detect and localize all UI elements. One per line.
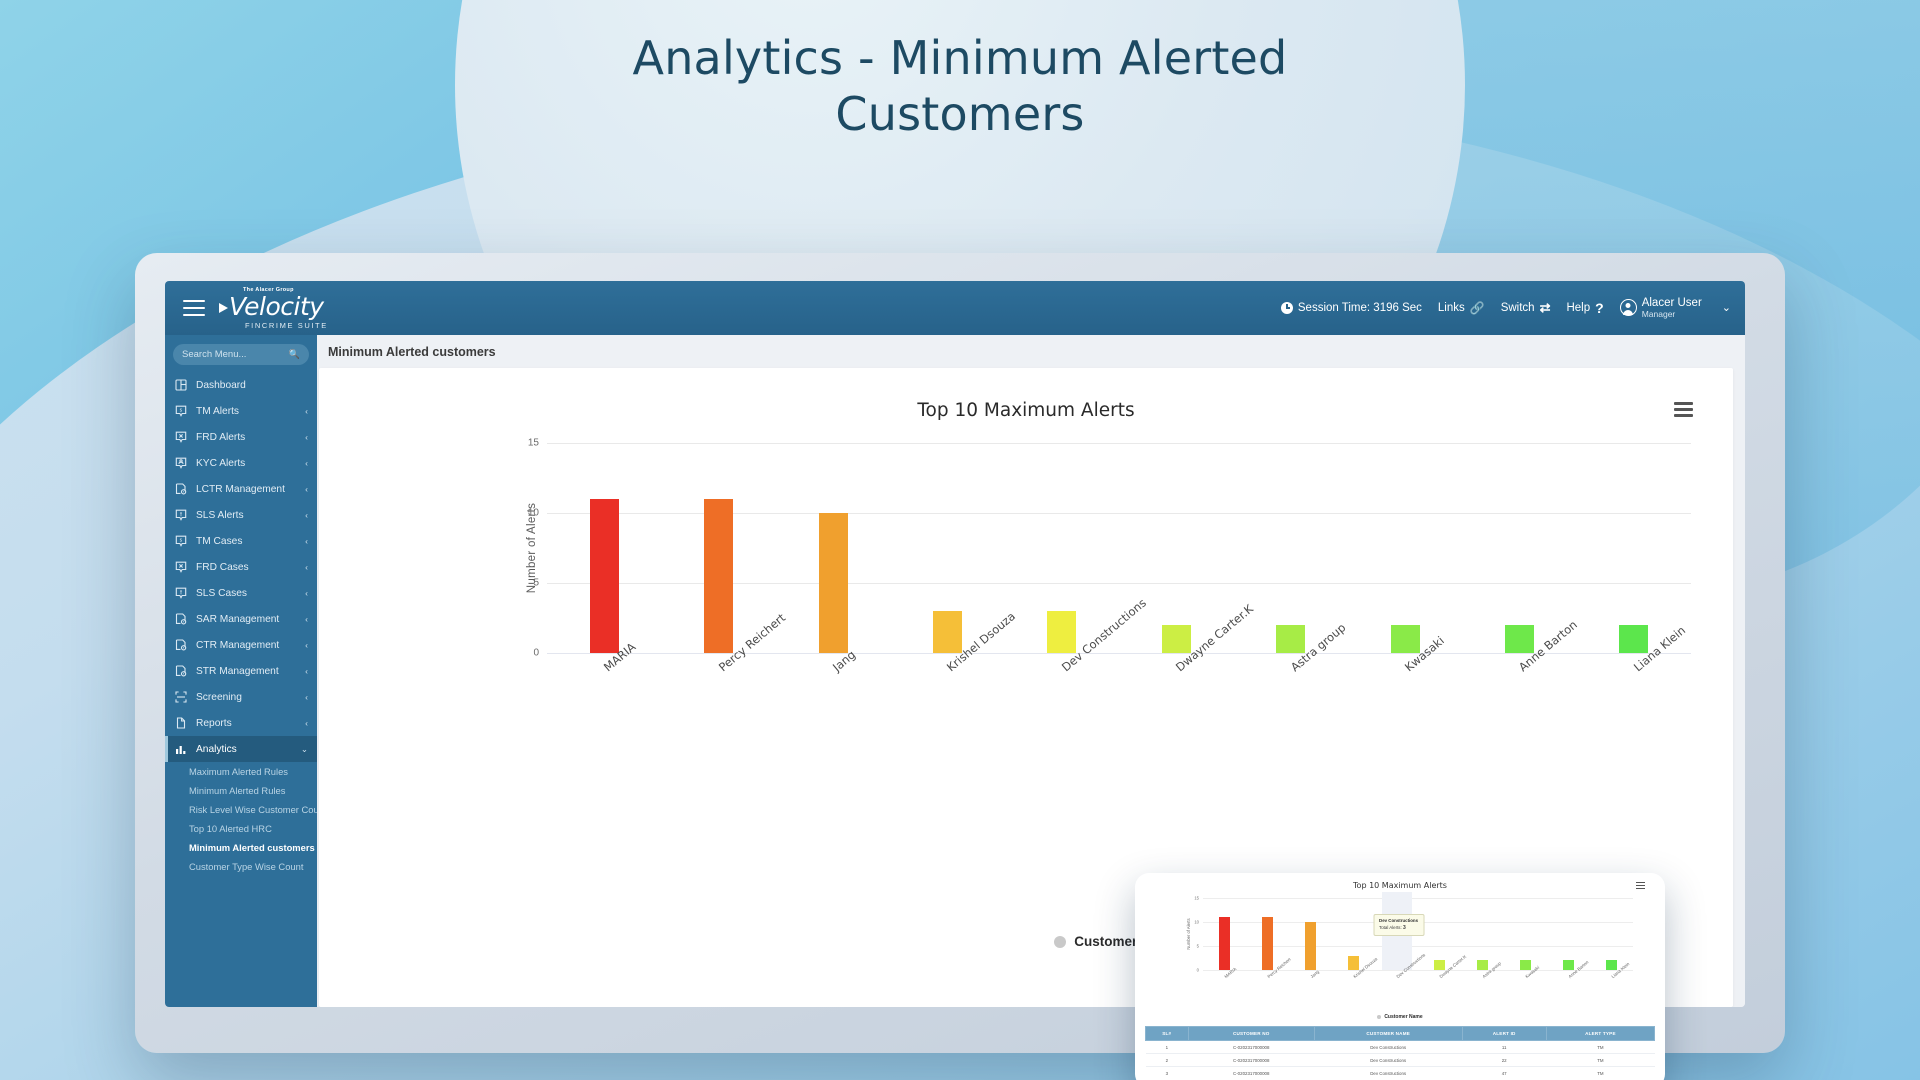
sidebar-item-label: TM Alerts <box>196 406 296 417</box>
link-icon: 🔗 <box>1470 301 1485 315</box>
chevron-left-icon: ‹ <box>305 614 308 624</box>
submenu-item-customer-type-wise-count[interactable]: Customer Type Wise Count <box>165 857 317 876</box>
chevron-left-icon: ‹ <box>305 484 308 494</box>
table-cell: 47 <box>1462 1067 1546 1080</box>
inset-tooltip: Dev Constructions Total Alerts: 3 <box>1373 914 1424 936</box>
table-row[interactable]: 1C-0202317000008Dev Constructions11TM <box>1146 1041 1655 1054</box>
inset-chart-header: Top 10 Maximum Alerts <box>1145 881 1655 890</box>
inset-x-tick-label: Jang <box>1309 969 1320 979</box>
inset-x-label-slot: Astra group <box>1461 970 1504 1004</box>
inset-bar-slot[interactable] <box>1590 898 1633 970</box>
chevron-down-icon: ⌄ <box>301 744 308 755</box>
submenu-item-minimum-alerted-customers[interactable]: Minimum Alerted customers <box>165 838 317 857</box>
inset-chart-bar[interactable] <box>1520 960 1531 970</box>
chevron-left-icon: ‹ <box>305 562 308 572</box>
sidebar-item-reports[interactable]: Reports‹ <box>165 710 317 736</box>
inset-legend-label: Customer Name <box>1384 1014 1422 1020</box>
hero-title-line1: Analytics - Minimum Alerted <box>633 31 1288 85</box>
inset-chart-bar[interactable] <box>1305 922 1316 970</box>
avatar-icon <box>1620 299 1637 316</box>
inset-x-label-slot: Krishel Dsouza <box>1332 970 1375 1004</box>
inset-x-label-slot: Dev Constructions <box>1375 970 1418 1004</box>
svg-text:$: $ <box>180 538 183 544</box>
bar-slot[interactable] <box>1348 443 1462 653</box>
brand-name: Velocity <box>229 294 324 319</box>
analytics-submenu: Maximum Alerted RulesMinimum Alerted Rul… <box>165 762 317 880</box>
bar-slot[interactable] <box>661 443 775 653</box>
tooltip-metric-label: Total Alerts: <box>1379 925 1402 930</box>
table-cell: Dev Constructions <box>1314 1067 1462 1080</box>
inset-chart-bar[interactable] <box>1477 960 1488 970</box>
inset-bar-slot[interactable] <box>1547 898 1590 970</box>
tooltip-metric: Total Alerts: 3 <box>1379 925 1418 933</box>
x-label-slot: MARIA <box>547 653 661 715</box>
money-alert-icon: $ <box>175 405 187 417</box>
inset-detail-panel[interactable]: Top 10 Maximum Alerts Number of Alerts 0… <box>1135 873 1665 1080</box>
page-hero-title: Analytics - Minimum Alerted Customers <box>0 30 1920 142</box>
bar-slot[interactable] <box>1462 443 1576 653</box>
sidebar-item-analytics[interactable]: Analytics⌄ <box>165 736 317 762</box>
sidebar-item-screening[interactable]: Screening‹ <box>165 684 317 710</box>
inset-bar-slot[interactable] <box>1418 898 1461 970</box>
table-cell: 3 <box>1146 1067 1189 1080</box>
tooltip-metric-value: 3 <box>1403 925 1406 931</box>
table-cell: 22 <box>1462 1054 1546 1067</box>
user-name-label: Alacer User <box>1642 297 1702 310</box>
help-button[interactable]: Help ? <box>1566 300 1603 316</box>
bar-slot[interactable] <box>1233 443 1347 653</box>
y-axis-tick: 0 <box>533 648 539 659</box>
chart-bar[interactable] <box>1505 625 1534 653</box>
inset-x-label-slot: Percy Reichert <box>1246 970 1289 1004</box>
bar-slot[interactable] <box>547 443 661 653</box>
x-label-slot: Dwayne Carter.K <box>1119 653 1233 715</box>
chevron-left-icon: ‹ <box>305 640 308 650</box>
inset-y-tick: 15 <box>1194 896 1199 901</box>
chart-menu-icon[interactable] <box>1674 402 1693 417</box>
bar-slot[interactable] <box>1005 443 1119 653</box>
x-label-slot: Dev Constructions <box>1005 653 1119 715</box>
inset-chart-bar[interactable] <box>1262 917 1273 970</box>
money-case-icon: $ <box>175 535 187 547</box>
chart-bar[interactable] <box>1276 625 1305 653</box>
inset-chart-title: Top 10 Maximum Alerts <box>1353 881 1447 890</box>
chevron-left-icon: ‹ <box>305 510 308 520</box>
inset-bar-slot[interactable]: Dev Constructions Total Alerts: 3 <box>1375 898 1418 970</box>
chevron-left-icon: ‹ <box>305 718 308 728</box>
chart-bar[interactable] <box>1047 611 1076 653</box>
sidebar-item-sar-management[interactable]: SAR Management‹ <box>165 606 317 632</box>
gear-doc-icon <box>175 665 187 677</box>
chart-bar[interactable] <box>1391 625 1420 653</box>
sidebar-item-label: Analytics <box>196 744 292 755</box>
sidebar-item-label: Reports <box>196 718 296 729</box>
clock-icon <box>1281 302 1293 314</box>
submenu-item-risk-level-wise-customer-count[interactable]: Risk Level Wise Customer Count <box>165 800 317 819</box>
table-row[interactable]: 3C-0202317000008Dev Constructions47TM <box>1146 1067 1655 1080</box>
chevron-left-icon: ‹ <box>305 588 308 598</box>
x-label-slot: Kwasaki <box>1348 653 1462 715</box>
table-header-row: SL#CUSTOMER NOCUSTOMER NAMEALERT IDALERT… <box>1146 1027 1655 1041</box>
page-title: Minimum Alerted customers <box>317 335 1745 368</box>
table-cell: TM <box>1546 1041 1654 1054</box>
bar-slot[interactable] <box>890 443 1004 653</box>
inset-plot-area: Number of Alerts 051015 Dev Construction… <box>1203 898 1633 970</box>
inset-chart-bar[interactable] <box>1563 960 1574 970</box>
x-label-slot: Percy Reichert <box>661 653 775 715</box>
inset-bar-slot[interactable] <box>1246 898 1289 970</box>
inset-bar-slot[interactable] <box>1203 898 1246 970</box>
topbar-actions: Session Time: 3196 Sec Links 🔗 Switch ⇄ … <box>1281 297 1745 320</box>
x-label-slot: Liana Klein <box>1577 653 1691 715</box>
question-mark-icon: ? <box>1595 300 1604 316</box>
svg-text:$: $ <box>180 408 183 414</box>
sidebar-item-label: CTR Management <box>196 640 296 651</box>
screening-icon <box>175 691 187 703</box>
table-cell: C-0202317000008 <box>1188 1054 1314 1067</box>
sidebar-item-sls-alerts[interactable]: SLS Alerts‹ <box>165 502 317 528</box>
session-timer: Session Time: 3196 Sec <box>1281 302 1422 314</box>
table-cell: 2 <box>1146 1054 1189 1067</box>
chart-bar[interactable] <box>1619 625 1648 653</box>
bar-slot[interactable] <box>1577 443 1691 653</box>
legend-dot-icon <box>1054 936 1066 948</box>
inset-y-tick: 10 <box>1194 920 1199 925</box>
tooltip-title: Dev Constructions <box>1379 918 1418 925</box>
session-time-label: Session Time: 3196 Sec <box>1298 302 1422 314</box>
y-axis-tick: 5 <box>533 577 539 588</box>
chart-bar[interactable] <box>819 513 848 653</box>
table-cell: 11 <box>1462 1041 1546 1054</box>
inset-x-label-slot: Anne Barton <box>1547 970 1590 1004</box>
sidebar-item-label: STR Management <box>196 666 296 677</box>
fraud-case-icon <box>175 561 187 573</box>
submenu-item-minimum-alerted-rules[interactable]: Minimum Alerted Rules <box>165 781 317 800</box>
chart-bar[interactable] <box>704 499 733 653</box>
table-cell: TM <box>1546 1054 1654 1067</box>
user-menu[interactable]: Alacer User Manager <box>1620 297 1702 320</box>
bar-chart-icon <box>175 743 187 755</box>
inset-legend: Customer Name <box>1145 1014 1655 1020</box>
switch-label: Switch <box>1501 302 1535 314</box>
links-button[interactable]: Links 🔗 <box>1438 301 1485 315</box>
inset-x-label-slot: Kwasaki <box>1504 970 1547 1004</box>
sidebar-item-label: SLS Cases <box>196 588 296 599</box>
x-label-slot: Astra group <box>1233 653 1347 715</box>
inset-chart-bar[interactable] <box>1434 960 1445 970</box>
sidebar-item-label: KYC Alerts <box>196 458 296 469</box>
laptop-frame: The Alacer Group Velocity FINCRIME SUITE… <box>135 253 1785 1053</box>
gear-doc-icon <box>175 639 187 651</box>
inset-bar-slot[interactable] <box>1332 898 1375 970</box>
sidebar-item-label: SAR Management <box>196 614 296 625</box>
inset-x-label-slot: Dwayne Carter.K <box>1418 970 1461 1004</box>
x-label-slot: Krishel Dsouza <box>890 653 1004 715</box>
brand-arrow-icon <box>219 303 228 313</box>
chevron-down-icon[interactable]: ⌄ <box>1722 301 1731 314</box>
table-cell: Dev Constructions <box>1314 1041 1462 1054</box>
x-label-slot: Anne Barton <box>1462 653 1576 715</box>
submenu-item-maximum-alerted-rules[interactable]: Maximum Alerted Rules <box>165 762 317 781</box>
sidebar-item-frd-cases[interactable]: FRD Cases‹ <box>165 554 317 580</box>
table-row[interactable]: 2C-0202317000008Dev Constructions22TM <box>1146 1054 1655 1067</box>
sidebar-item-label: SLS Alerts <box>196 510 296 521</box>
table-body: 1C-0202317000008Dev Constructions11TM2C-… <box>1146 1041 1655 1080</box>
sidebar-item-tm-cases[interactable]: $TM Cases‹ <box>165 528 317 554</box>
search-input[interactable] <box>182 349 289 360</box>
chevron-left-icon: ‹ <box>305 432 308 442</box>
top-navbar: The Alacer Group Velocity FINCRIME SUITE… <box>165 281 1745 335</box>
table-cell: Dev Constructions <box>1314 1054 1462 1067</box>
sidebar: 🔍 Dashboard$TM Alerts‹FRD Alerts‹KYC Ale… <box>165 335 317 1007</box>
hamburger-icon[interactable] <box>183 300 205 316</box>
sidebar-item-dashboard[interactable]: Dashboard <box>165 372 317 398</box>
sidebar-item-lctr-management[interactable]: LCTR Management‹ <box>165 476 317 502</box>
table-column-header: ALERT ID <box>1462 1027 1546 1041</box>
dashboard-icon <box>175 379 187 391</box>
switch-arrows-icon: ⇄ <box>1540 300 1551 316</box>
chevron-left-icon: ‹ <box>305 692 308 702</box>
sidebar-item-tm-alerts[interactable]: $TM Alerts‹ <box>165 398 317 424</box>
chart-title: Top 10 Maximum Alerts <box>917 400 1134 421</box>
inset-y-tick: 5 <box>1197 944 1199 949</box>
submenu-item-top-10-alerted-hrc[interactable]: Top 10 Alerted HRC <box>165 819 317 838</box>
inset-x-label-slot: Liana Klein <box>1590 970 1633 1004</box>
sls-alert-icon <box>175 509 187 521</box>
inset-y-tick: 0 <box>1197 968 1199 973</box>
sidebar-item-label: Dashboard <box>196 380 299 391</box>
chart-x-labels: MARIAPercy ReichertJangKrishel DsouzaDev… <box>547 653 1691 715</box>
inset-alerts-table: SL#CUSTOMER NOCUSTOMER NAMEALERT IDALERT… <box>1145 1026 1655 1080</box>
hero-title-line2: Customers <box>0 86 1920 142</box>
switch-button[interactable]: Switch ⇄ <box>1501 300 1551 316</box>
sidebar-item-label: Screening <box>196 692 296 703</box>
gear-doc-icon <box>175 483 187 495</box>
inset-bar-slot[interactable] <box>1289 898 1332 970</box>
help-label: Help <box>1566 302 1590 314</box>
inset-chart-bar[interactable] <box>1606 960 1617 970</box>
inset-x-labels: MARIAPercy ReichertJangKrishel DsouzaDev… <box>1203 970 1633 1004</box>
inset-x-label-slot: MARIA <box>1203 970 1246 1004</box>
chevron-left-icon: ‹ <box>305 406 308 416</box>
document-icon <box>175 717 187 729</box>
inset-legend-dot-icon <box>1377 1015 1381 1019</box>
table-column-header: SL# <box>1146 1027 1189 1041</box>
inset-chart-menu-icon[interactable] <box>1636 882 1645 889</box>
chevron-left-icon: ‹ <box>305 536 308 546</box>
sidebar-item-label: LCTR Management <box>196 484 296 495</box>
table-cell: TM <box>1546 1067 1654 1080</box>
inset-y-axis-title: Number of Alerts <box>1186 918 1191 949</box>
brand-logo[interactable]: The Alacer Group Velocity FINCRIME SUITE <box>219 287 328 330</box>
chevron-left-icon: ‹ <box>305 458 308 468</box>
kyc-alert-icon <box>175 457 187 469</box>
search-menu-box[interactable]: 🔍 <box>173 344 309 365</box>
table-column-header: CUSTOMER NAME <box>1314 1027 1462 1041</box>
y-axis-tick: 10 <box>528 507 539 518</box>
brand-sublabel: FINCRIME SUITE <box>245 321 328 330</box>
inset-bar-slot[interactable] <box>1504 898 1547 970</box>
sidebar-item-ctr-management[interactable]: CTR Management‹ <box>165 632 317 658</box>
sidebar-item-label: FRD Alerts <box>196 432 296 443</box>
x-label-slot: Jang <box>776 653 890 715</box>
chart-bar[interactable] <box>590 499 619 653</box>
sidebar-item-frd-alerts[interactable]: FRD Alerts‹ <box>165 424 317 450</box>
sls-case-icon <box>175 587 187 599</box>
inset-bar-slot[interactable] <box>1461 898 1504 970</box>
chart-plot-area: Number of Alerts 051015 MARIAPercy Reich… <box>547 443 1691 653</box>
inset-chart-bar[interactable] <box>1348 956 1359 970</box>
bar-slot[interactable] <box>776 443 890 653</box>
links-label: Links <box>1438 302 1465 314</box>
table-cell: C-0202317000008 <box>1188 1067 1314 1080</box>
sidebar-item-str-management[interactable]: STR Management‹ <box>165 658 317 684</box>
user-role-label: Manager <box>1642 310 1702 320</box>
table-cell: 1 <box>1146 1041 1189 1054</box>
sidebar-item-sls-cases[interactable]: SLS Cases‹ <box>165 580 317 606</box>
sidebar-item-label: FRD Cases <box>196 562 296 573</box>
sidebar-item-label: TM Cases <box>196 536 296 547</box>
table-cell: C-0202317000008 <box>1188 1041 1314 1054</box>
chart-bar[interactable] <box>933 611 962 653</box>
fraud-alert-icon <box>175 431 187 443</box>
y-axis-tick: 15 <box>528 438 539 449</box>
sidebar-menu-list: Dashboard$TM Alerts‹FRD Alerts‹KYC Alert… <box>165 372 317 880</box>
table-column-header: CUSTOMER NO <box>1188 1027 1314 1041</box>
inset-chart-bar[interactable] <box>1219 917 1230 970</box>
inset-x-label-slot: Jang <box>1289 970 1332 1004</box>
chevron-left-icon: ‹ <box>305 666 308 676</box>
bar-slot[interactable] <box>1119 443 1233 653</box>
chart-bar[interactable] <box>1162 625 1191 653</box>
gear-doc-icon <box>175 613 187 625</box>
search-icon[interactable]: 🔍 <box>289 349 300 360</box>
table-column-header: ALERT TYPE <box>1546 1027 1654 1041</box>
sidebar-item-kyc-alerts[interactable]: KYC Alerts‹ <box>165 450 317 476</box>
